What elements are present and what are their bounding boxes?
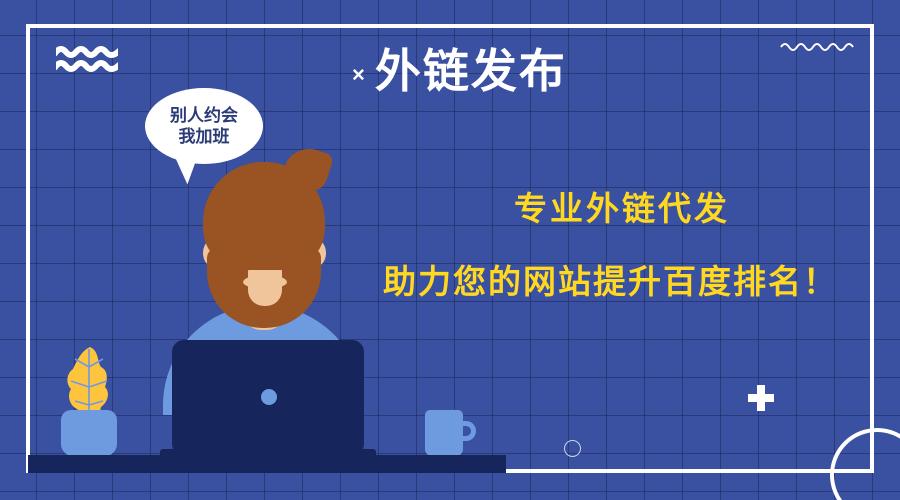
- laptop-logo-icon: [261, 389, 277, 405]
- title-text: 外链发布: [375, 48, 567, 94]
- page-title: × 外链发布: [352, 48, 567, 94]
- person-hair-fringe: [214, 186, 314, 220]
- person-mouth: [243, 275, 287, 289]
- plus-icon: [748, 385, 774, 411]
- subheading-secondary: 助力您的网站提升百度排名！: [383, 255, 838, 303]
- circle-outline-large-icon: [830, 428, 900, 500]
- banner-canvas: × 外链发布 专业外链代发 助力您的网站提升百度排名！ 别人约会 我加班: [0, 0, 900, 500]
- speech-bubble-line-2: 我加班: [179, 126, 230, 147]
- circle-outline-small-icon: [564, 440, 581, 457]
- speech-bubble: 别人约会 我加班: [145, 88, 263, 164]
- speech-bubble-line-1: 别人约会: [170, 105, 238, 126]
- plant-pot: [61, 410, 117, 456]
- wave-thick-icon: [56, 45, 118, 73]
- subheading-primary: 专业外链代发: [514, 182, 730, 230]
- wave-thin-icon: [780, 40, 858, 54]
- desk-surface: [28, 455, 506, 473]
- coffee-mug-handle: [458, 421, 476, 441]
- title-bullet-icon: ×: [352, 64, 365, 86]
